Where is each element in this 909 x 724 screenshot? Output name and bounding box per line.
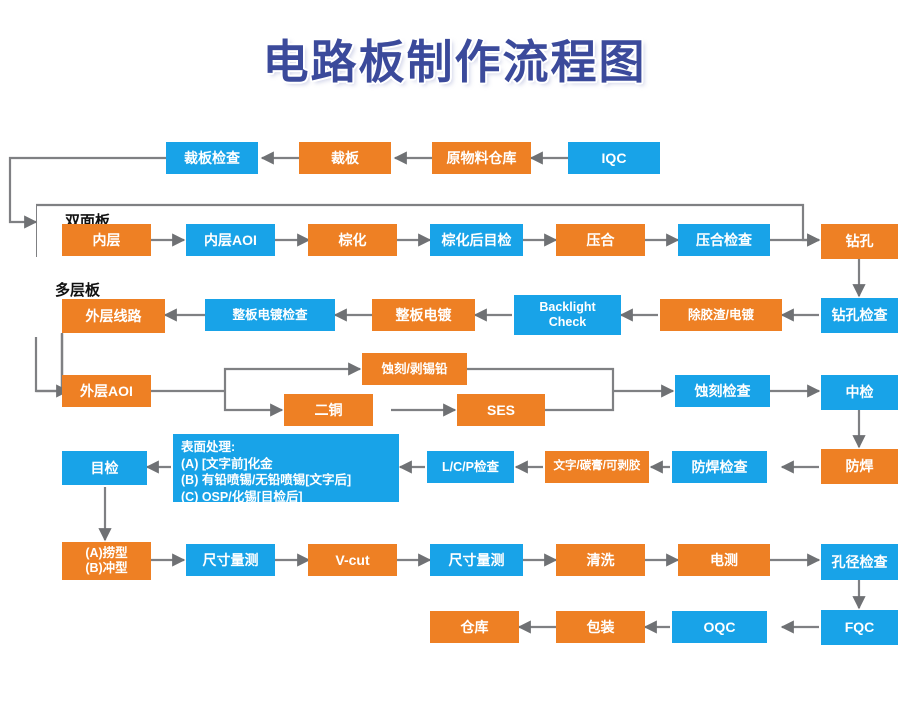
node-packaging[interactable]: 包装 — [556, 611, 645, 643]
node-post-browning-visual[interactable]: 棕化后目检 — [430, 224, 523, 256]
surface-treatment-note: 表面处理: (A) [文字前]化金 (B) 有铅喷锡/无铅喷锡[文字后] (C)… — [173, 434, 399, 502]
node-second-copper[interactable]: 二铜 — [284, 394, 373, 426]
node-cutting-inspection[interactable]: 裁板检查 — [166, 142, 258, 174]
node-routing-punching[interactable]: (A)捞型 (B)冲型 — [62, 542, 151, 580]
node-hole-diameter-inspection[interactable]: 孔径检查 — [821, 544, 898, 580]
node-outer-layer-aoi[interactable]: 外层AOI — [62, 375, 151, 407]
node-drilling[interactable]: 钻孔 — [821, 224, 898, 259]
edge-etching-merge-top — [467, 369, 613, 391]
node-outer-layer-circuit[interactable]: 外层线路 — [62, 299, 165, 333]
edge-ses-merge-bottom — [545, 391, 613, 410]
node-iqc[interactable]: IQC — [568, 142, 660, 174]
node-panel-plating[interactable]: 整板电镀 — [372, 299, 475, 331]
edge-branch-to-second-copper — [225, 391, 282, 410]
node-panel-plating-inspection[interactable]: 整板电镀检查 — [205, 299, 335, 331]
node-ses[interactable]: SES — [457, 394, 545, 426]
node-browning[interactable]: 棕化 — [308, 224, 397, 256]
node-v-cut[interactable]: V-cut — [308, 544, 397, 576]
flowchart-canvas: 电路板制作流程图 — [0, 0, 909, 724]
node-cutting[interactable]: 裁板 — [299, 142, 391, 174]
node-solder-mask[interactable]: 防焊 — [821, 449, 898, 484]
node-lcp-inspection[interactable]: L/C/P检查 — [427, 451, 514, 483]
node-drilling-inspection[interactable]: 钻孔检查 — [821, 298, 898, 333]
node-warehouse[interactable]: 仓库 — [430, 611, 519, 643]
node-oqc[interactable]: OQC — [672, 611, 767, 643]
edge-branch-to-etching — [225, 369, 360, 391]
node-solder-mask-inspection[interactable]: 防焊检查 — [672, 451, 767, 483]
node-etching-strip-tin-lead[interactable]: 蚀刻/剥锡铅 — [362, 353, 467, 385]
node-cleaning[interactable]: 清洗 — [556, 544, 645, 576]
node-middle-inspection[interactable]: 中检 — [821, 375, 898, 410]
node-fqc[interactable]: FQC — [821, 610, 898, 645]
node-lamination-inspection[interactable]: 压合检查 — [678, 224, 770, 256]
node-inner-layer-aoi[interactable]: 内层AOI — [186, 224, 275, 256]
node-desmear-plating[interactable]: 除胶渣/电镀 — [660, 299, 782, 331]
node-backlight-check[interactable]: Backlight Check — [514, 295, 621, 335]
node-visual-inspection[interactable]: 目检 — [62, 451, 147, 485]
node-electrical-test[interactable]: 电测 — [678, 544, 770, 576]
node-dimension-measure-2[interactable]: 尺寸量测 — [430, 544, 523, 576]
node-legend-carbon-peelable[interactable]: 文字/碳膏/可剥胶 — [545, 451, 649, 483]
node-dimension-measure-1[interactable]: 尺寸量测 — [186, 544, 275, 576]
node-inner-layer[interactable]: 内层 — [62, 224, 151, 256]
node-etching-inspection[interactable]: 蚀刻检查 — [675, 375, 770, 407]
group-label-multilayer-board: 多层板 — [55, 279, 100, 300]
node-lamination[interactable]: 压合 — [556, 224, 645, 256]
node-raw-material-warehouse[interactable]: 原物料仓库 — [432, 142, 531, 174]
